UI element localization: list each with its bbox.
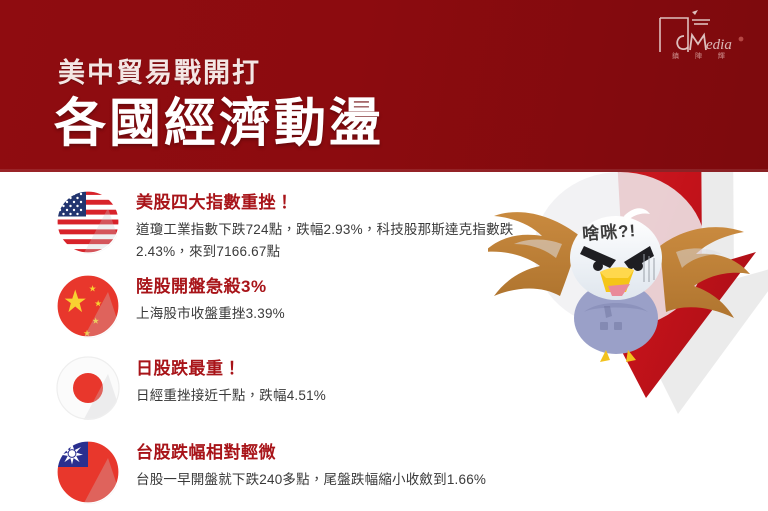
news-text-jp: 日股跌最重！ 日經重挫接近千點，跌幅4.51% xyxy=(136,356,326,407)
news-heading: 台股跌幅相對輕微 xyxy=(136,442,486,465)
jp-flag-icon xyxy=(56,356,120,420)
news-text-cn: 陸股開盤急殺3% 上海股市收盤重挫3.39% xyxy=(136,274,285,325)
news-heading: 日股跌最重！ xyxy=(136,358,326,381)
news-body: 上海股市收盤重挫3.39% xyxy=(136,303,285,325)
news-text-tw: 台股跌幅相對輕微 台股一早開盤就下跌240多點，尾盤跌幅縮小收斂到1.66% xyxy=(136,440,486,491)
cn-flag-icon xyxy=(56,274,120,338)
news-row-tw: 台股跌幅相對輕微 台股一早開盤就下跌240多點，尾盤跌幅縮小收斂到1.66% xyxy=(0,440,560,511)
news-row-us: 美股四大指數重挫！ 道瓊工業指數下跌724點，跌幅2.93%，科技股那斯達克指數… xyxy=(0,190,560,264)
news-body: 道瓊工業指數下跌724點，跌幅2.93%，科技股那斯達克指數跌2.43%，來到7… xyxy=(136,219,536,264)
eagle-body xyxy=(574,282,658,354)
page-title: 各國經濟動盪 xyxy=(54,98,384,150)
infographic-canvas: 美中貿易戰開打 各國經濟動盪 edia xyxy=(0,0,768,511)
news-body: 日經重挫接近千點，跌幅4.51% xyxy=(136,385,326,407)
news-list: 美股四大指數重挫！ 道瓊工業指數下跌724點，跌幅2.93%，科技股那斯達克指數… xyxy=(0,176,560,511)
eagle-right-brow xyxy=(624,246,654,270)
eagle-right-wing xyxy=(660,227,750,318)
tw-flag-icon xyxy=(56,440,120,504)
us-flag-icon xyxy=(56,190,120,254)
tcmedia-logo[interactable]: edia 鎮 陣 輝 xyxy=(648,6,752,62)
logo-subtext: 鎮 陣 輝 xyxy=(662,51,742,61)
eagle-left-brow xyxy=(580,246,616,268)
eagle-chest-emblem xyxy=(600,306,622,330)
news-text-us: 美股四大指數重挫！ 道瓊工業指數下跌724點，跌幅2.93%，科技股那斯達克指數… xyxy=(136,190,536,263)
news-heading: 美股四大指數重挫！ xyxy=(136,192,536,215)
news-row-jp: 日股跌最重！ 日經重挫接近千點，跌幅4.51% xyxy=(0,356,560,430)
eagle-beak xyxy=(600,270,634,292)
news-row-cn: 陸股開盤急殺3% 上海股市收盤重挫3.39% xyxy=(0,274,560,348)
header-subtitle: 美中貿易戰開打 xyxy=(58,60,261,87)
news-heading: 陸股開盤急殺3% xyxy=(136,276,285,299)
speech-bubble-text: 啥咪?! xyxy=(581,216,637,245)
news-body: 台股一早開盤就下跌240多點，尾盤跌幅縮小收斂到1.66% xyxy=(136,469,486,491)
